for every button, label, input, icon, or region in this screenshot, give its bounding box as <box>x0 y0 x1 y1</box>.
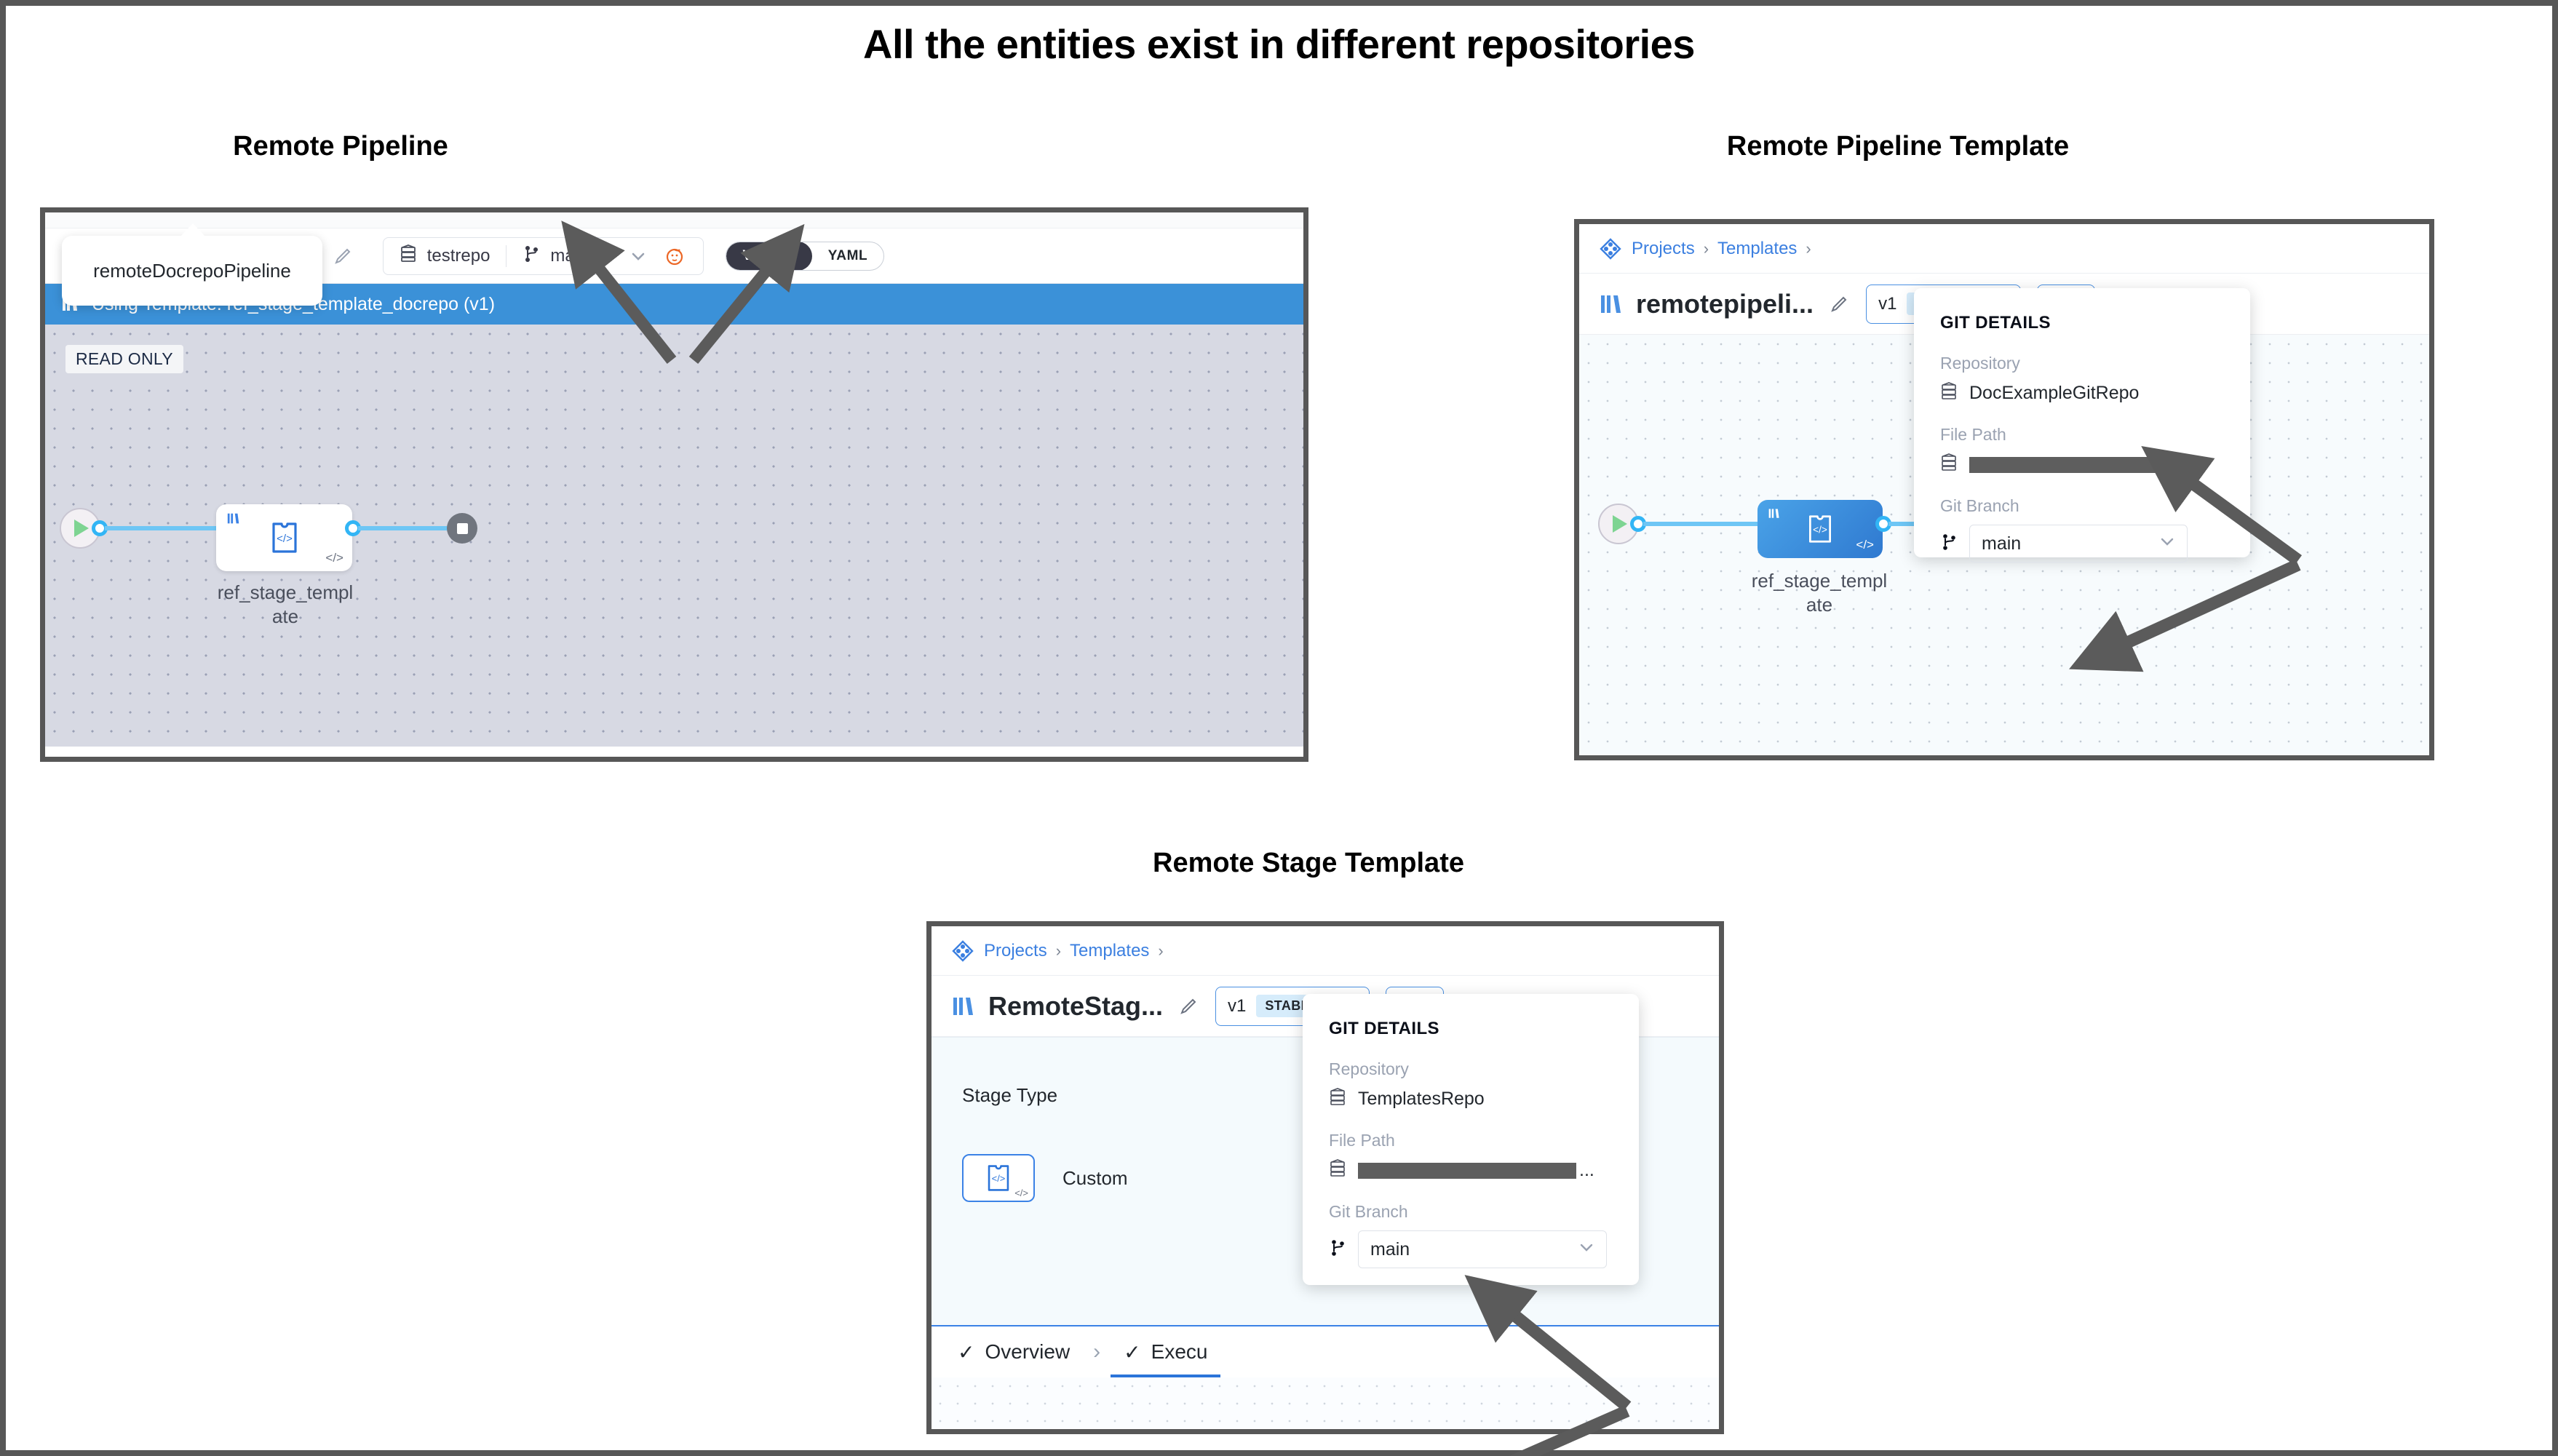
tab-execution[interactable]: ✓ Execu <box>1111 1326 1220 1378</box>
repository-row: TemplatesRepo <box>1329 1088 1613 1110</box>
repo-branch-selector[interactable]: testrepo main <box>383 237 704 275</box>
breadcrumb-templates[interactable]: Templates <box>1717 239 1797 259</box>
template-name: remotepipeli... <box>1636 289 1814 319</box>
chevron-right-icon: › <box>1083 1340 1111 1364</box>
stage-type-label: Stage Type <box>962 1084 1057 1107</box>
stage-node-ref-stage-template[interactable]: </> </> <box>216 504 352 571</box>
toggle-yaml[interactable]: YAML <box>812 242 883 271</box>
git-branch-label: Git Branch <box>1329 1202 1613 1222</box>
chevron-down-icon[interactable] <box>2159 533 2175 554</box>
version-label: v1 <box>1228 996 1246 1017</box>
breadcrumb-templates[interactable]: Templates <box>1070 941 1149 961</box>
read-only-badge: READ ONLY <box>65 345 183 373</box>
section-title-remote-pipeline-template: Remote Pipeline Template <box>1665 131 2131 162</box>
repository-icon <box>1940 453 1958 476</box>
tab-overview[interactable]: ✓ Overview <box>945 1326 1083 1378</box>
chevron-down-icon[interactable] <box>630 248 646 264</box>
git-branch-icon <box>523 244 540 267</box>
play-icon <box>1613 515 1627 533</box>
check-icon: ✓ <box>958 1340 974 1364</box>
repo-value: testrepo <box>427 246 490 266</box>
pipeline-canvas[interactable]: READ ONLY </> <box>45 325 1303 747</box>
file-path-row <box>1940 453 2224 476</box>
stage-tabs: ✓ Overview › ✓ Execu <box>932 1325 1719 1377</box>
repository-value: DocExampleGitRepo <box>1969 383 2139 404</box>
breadcrumb-separator: › <box>1704 239 1709 258</box>
play-icon <box>74 520 89 537</box>
repository-row: DocExampleGitRepo <box>1940 382 2224 405</box>
git-details-title: GIT DETAILS <box>1329 1019 1613 1039</box>
git-details-popover: GIT DETAILS Repository DocExampleGitRepo… <box>1914 288 2250 557</box>
pencil-icon[interactable] <box>333 247 352 266</box>
repo-selector[interactable]: testrepo <box>384 238 507 274</box>
git-branch-icon <box>1940 533 1958 555</box>
visual-yaml-toggle[interactable]: VISUAL YAML <box>726 242 884 271</box>
stage-type-value: Custom <box>1062 1167 1128 1190</box>
section-title-remote-stage-template: Remote Stage Template <box>1097 848 1520 879</box>
git-branch-value: main <box>1982 533 2021 554</box>
tab-execution-label: Execu <box>1151 1340 1208 1364</box>
edge-stage-to-end <box>358 526 450 530</box>
branch-value: main <box>550 246 588 266</box>
pencil-icon[interactable] <box>1179 997 1198 1016</box>
breadcrumb-separator-2: › <box>1158 942 1163 960</box>
file-path-label: File Path <box>1329 1131 1613 1150</box>
file-path-redacted <box>1969 457 2199 473</box>
git-details-title: GIT DETAILS <box>1940 313 2224 333</box>
custom-stage-icon: </> <box>985 1163 1012 1193</box>
tab-overview-label: Overview <box>985 1340 1070 1364</box>
git-branch-icon <box>1329 1238 1346 1261</box>
file-path-ellipsis: ... <box>1579 1160 1594 1181</box>
pencil-icon[interactable] <box>1830 295 1848 314</box>
git-branch-select[interactable]: main <box>1358 1230 1607 1268</box>
repository-value: TemplatesRepo <box>1358 1089 1485 1110</box>
file-path-redacted <box>1358 1163 1576 1179</box>
template-name: RemoteStag... <box>988 991 1163 1022</box>
chevron-down-icon[interactable] <box>1578 1239 1594 1260</box>
template-icon <box>952 995 977 1018</box>
git-branch-select[interactable]: main <box>1969 525 2188 562</box>
code-tag-icon: </> <box>1014 1188 1028 1198</box>
harness-flame-icon[interactable] <box>665 247 684 266</box>
slide-canvas: All the entities exist in different repo… <box>0 0 2558 1456</box>
custom-stage-icon: </> <box>269 521 301 554</box>
git-branch-label: Git Branch <box>1940 496 2224 516</box>
repository-label: Repository <box>1329 1059 1613 1079</box>
breadcrumb-separator-2: › <box>1806 239 1811 258</box>
pipeline-end-node[interactable] <box>447 513 477 544</box>
section-title-remote-pipeline: Remote Pipeline <box>224 131 457 162</box>
git-branch-row: main <box>1940 525 2224 562</box>
pipeline-window-topbar <box>45 212 1303 228</box>
stage-canvas-grid <box>932 1377 1719 1428</box>
breadcrumb-projects[interactable]: Projects <box>1632 239 1695 259</box>
code-tag-icon: </> <box>325 551 343 565</box>
git-branch-value: main <box>1370 1239 1410 1260</box>
edge-start-to-stage <box>105 526 227 530</box>
template-icon <box>1600 293 1624 316</box>
repository-icon <box>400 244 417 267</box>
stage-node-label: ref_stage_templ ate <box>191 581 380 628</box>
file-path-label: File Path <box>1940 425 2224 445</box>
custom-stage-icon: </> <box>1806 514 1835 544</box>
branch-selector[interactable]: main <box>507 238 703 274</box>
template-icon <box>1768 507 1781 524</box>
stage-template-body: Stage Type </> </> Custom ✓ Overview › ✓… <box>932 1037 1719 1428</box>
repository-icon <box>1329 1088 1346 1110</box>
version-label: v1 <box>1878 294 1896 314</box>
template-icon <box>226 512 241 530</box>
repository-label: Repository <box>1940 354 2224 373</box>
pipeline-name-tooltip: remoteDocrepoPipeline <box>62 236 322 306</box>
breadcrumb-projects[interactable]: Projects <box>984 941 1047 961</box>
stage-node-ref-stage-template[interactable]: </> </> <box>1757 500 1883 558</box>
file-path-row: ... <box>1329 1159 1613 1182</box>
repository-icon <box>1940 382 1958 405</box>
check-icon: ✓ <box>1124 1340 1140 1364</box>
template-canvas[interactable]: </> </> ref_stage_templ ate GIT DETAILS … <box>1579 335 2429 755</box>
breadcrumb: Projects › Templates › <box>932 926 1719 976</box>
svg-text:</>: </> <box>992 1173 1006 1184</box>
git-branch-row: main <box>1329 1230 1613 1268</box>
svg-text:</>: </> <box>277 533 293 545</box>
remote-stage-template-panel: Projects › Templates › RemoteStag... v1 <box>926 921 1724 1434</box>
code-tag-icon: </> <box>1856 538 1874 552</box>
toggle-visual[interactable]: VISUAL <box>726 242 811 271</box>
page-title: All the entities exist in different repo… <box>6 20 2552 68</box>
repository-icon <box>1329 1159 1346 1182</box>
stage-node-label: ref_stage_templ ate <box>1728 569 1910 616</box>
edge-start-to-stage <box>1643 522 1767 526</box>
project-icon <box>1600 238 1621 260</box>
svg-text:</>: </> <box>1813 524 1827 535</box>
breadcrumb-separator: › <box>1056 942 1061 960</box>
project-icon <box>952 940 974 962</box>
stage-type-custom-tile[interactable]: </> </> <box>962 1154 1035 1202</box>
remote-pipeline-template-panel: Projects › Templates › remotepipeli... v… <box>1574 219 2434 760</box>
remote-pipeline-panel: remoteDocrep... testre <box>40 207 1308 762</box>
git-details-popover: GIT DETAILS Repository TemplatesRepo Fil… <box>1303 994 1639 1285</box>
breadcrumb: Projects › Templates › <box>1579 224 2429 274</box>
